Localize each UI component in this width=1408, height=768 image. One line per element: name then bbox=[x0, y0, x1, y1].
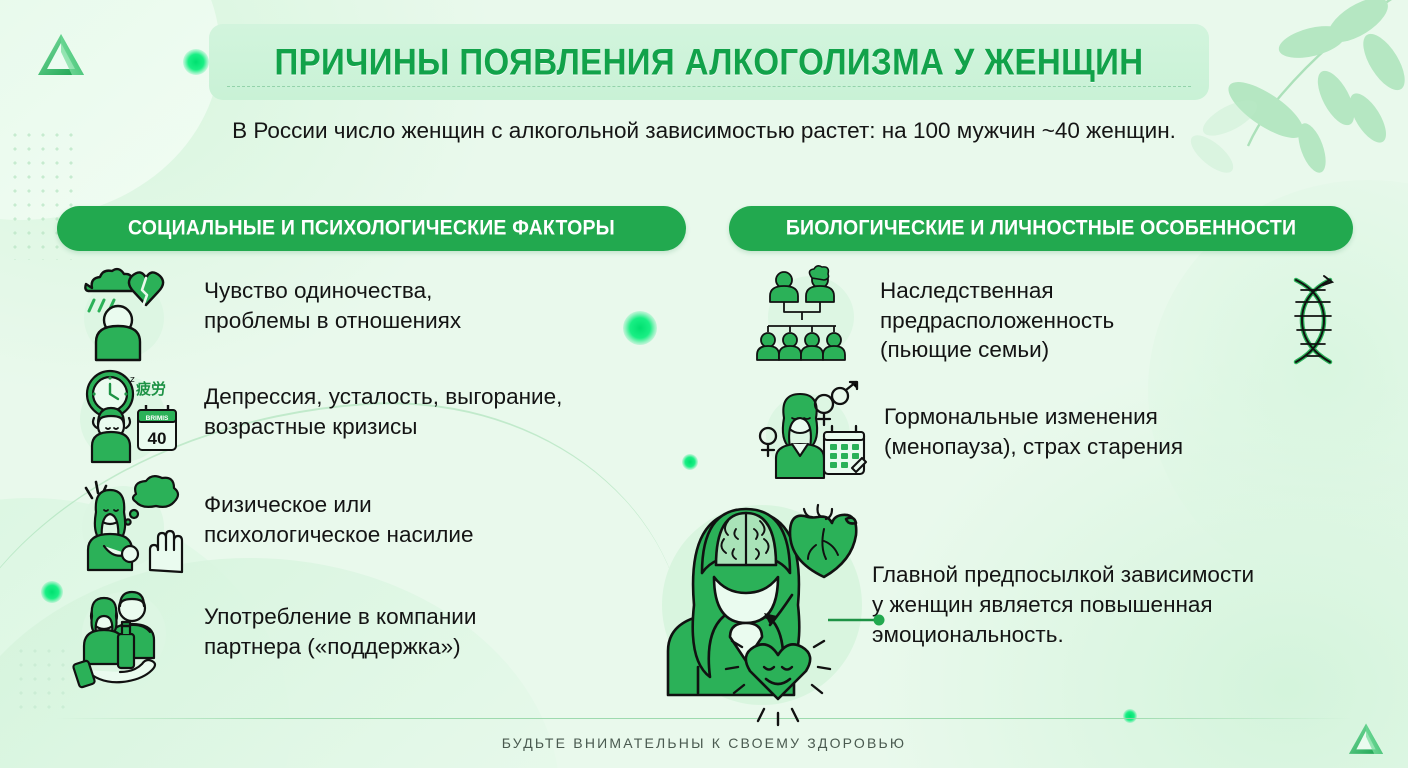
title-banner: ПРИЧИНЫ ПОЯВЛЕНИЯ АЛКОГОЛИЗМА У ЖЕНЩИН bbox=[209, 24, 1209, 100]
highlight-note: Главной предпосылкой зависимости у женщи… bbox=[872, 560, 1342, 650]
glow-dot bbox=[623, 311, 657, 345]
section-heading-label: СОЦИАЛЬНЫЕ И ПСИХОЛОГИЧЕСКИЕ ФАКТОРЫ bbox=[128, 216, 615, 241]
list-item: Наследственная предрасположенность (пьющ… bbox=[762, 268, 1114, 365]
footer-divider bbox=[56, 718, 1352, 719]
section-heading-label: БИОЛОГИЧЕСКИЕ И ЛИЧНОСТНЫЕ ОСОБЕННОСТИ bbox=[786, 216, 1296, 241]
woman-gender-symbols-calendar-icon bbox=[762, 388, 872, 480]
list-item-label: Чувство одиночества, проблемы в отношени… bbox=[204, 276, 461, 335]
svg-text:BRIMIS: BRIMIS bbox=[146, 415, 169, 422]
list-item-label: Физическое или психологическое насилие bbox=[204, 490, 474, 549]
couple-bottle-hand-icon bbox=[70, 586, 190, 690]
clock-tired-woman-calendar-icon: z 疲労 BRIMIS 40 bbox=[70, 368, 190, 464]
list-item-label: Употребление в компании партнера («подде… bbox=[204, 602, 476, 661]
page-title: ПРИЧИНЫ ПОЯВЛЕНИЯ АЛКОГОЛИЗМА У ЖЕНЩИН bbox=[274, 41, 1143, 84]
svg-text:疲労: 疲労 bbox=[136, 380, 166, 398]
list-item: Чувство одиночества, проблемы в отношени… bbox=[70, 266, 461, 362]
connector-line bbox=[828, 614, 886, 626]
woman-brain-heart-smiling-heart-icon bbox=[640, 495, 886, 713]
list-item-label: Наследственная предрасположенность (пьющ… bbox=[880, 276, 1114, 365]
footer-text: БУДЬТЕ ВНИМАТЕЛЬНЫ К СВОЕМУ ЗДОРОВЬЮ bbox=[0, 735, 1408, 751]
section-heading-biological-personality: БИОЛОГИЧЕСКИЕ И ЛИЧНОСТНЫЕ ОСОБЕННОСТИ bbox=[729, 206, 1353, 251]
glow-dot bbox=[41, 581, 63, 603]
list-item-label: Депрессия, усталость, выгорание, возраст… bbox=[204, 382, 562, 441]
list-item: z 疲労 BRIMIS 40 Депрессия, усталость, выг… bbox=[70, 368, 562, 464]
glow-dot bbox=[183, 49, 209, 75]
triangle-logo-icon bbox=[34, 30, 88, 80]
triangle-logo-icon bbox=[1346, 720, 1386, 758]
glow-dot bbox=[1123, 709, 1137, 723]
section-heading-social-psychological: СОЦИАЛЬНЫЕ И ПСИХОЛОГИЧЕСКИЕ ФАКТОРЫ bbox=[57, 206, 686, 251]
svg-text:40: 40 bbox=[148, 429, 167, 448]
list-item: Физическое или психологическое насилие bbox=[70, 476, 474, 572]
woman-thought-bubble-raised-hand-icon bbox=[70, 476, 190, 572]
rain-cloud-broken-heart-person-icon bbox=[70, 266, 190, 362]
dna-helix-icon bbox=[1274, 274, 1354, 368]
dot-grid-pattern-bottom bbox=[14, 644, 70, 712]
list-item-label: Гормональные изменения (менопауза), стра… bbox=[884, 402, 1183, 461]
svg-text:z: z bbox=[130, 375, 135, 385]
list-item: Употребление в компании партнера («подде… bbox=[70, 586, 476, 690]
list-item: Гормональные изменения (менопауза), стра… bbox=[762, 388, 1183, 480]
leaf-branch-secondary-icon bbox=[1170, 78, 1290, 198]
glow-dot bbox=[682, 454, 698, 470]
family-tree-icon bbox=[762, 268, 870, 364]
